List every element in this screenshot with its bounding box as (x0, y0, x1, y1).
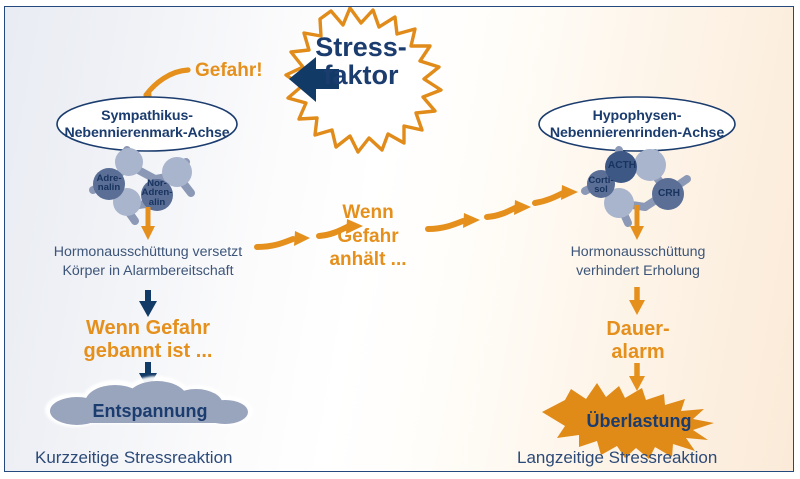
right-caption: Langzeitige Stressreaktion (517, 448, 717, 467)
cortisol-label: Corti- sol (578, 175, 624, 193)
gefahr-label: Gefahr! (195, 60, 263, 81)
left-caption: Kurzzeitige Stressreaktion (35, 448, 232, 467)
entspannung-label: Entspannung (63, 401, 237, 421)
adrenalin-label: Adre- nalin (85, 174, 133, 193)
right-effect-text: Hormonausschüttung verhindert Erholung (532, 243, 744, 281)
middle-arrow-chain-right-shape (428, 185, 578, 229)
right-orange-down-arrow3-shape (629, 363, 645, 391)
acth-label: ACTH (599, 161, 645, 171)
hypophysen-axis-label: Hypophysen- Nebennierenrinden-Achse (533, 108, 741, 142)
diagram-canvas: Stress- faktor Gefahr! Sympathikus- Nebe… (0, 0, 800, 479)
noradrenalin-label: Nor- Adren- alin (133, 179, 181, 207)
diagram-frame: Stress- faktor Gefahr! Sympathikus- Nebe… (4, 6, 794, 472)
right-orange-down-arrow2-shape (629, 287, 645, 315)
ueberlastung-label: Überlastung (557, 411, 721, 431)
left-condition-text: Wenn Gefahr gebannt ist ... (43, 317, 253, 363)
left-effect-text: Hormonausschüttung versetzt Körper in Al… (33, 243, 263, 281)
stressfaktor-label: Stress- faktor (301, 33, 421, 89)
middle-condition-text: Wenn Gefahr anhält ... (312, 201, 424, 272)
crh-label: CRH (646, 189, 692, 199)
right-condition-text: Dauer- alarm (567, 318, 709, 364)
sympathikus-axis-label: Sympathikus- Nebennierenmark-Achse (52, 108, 242, 142)
left-navy-down-arrow-shape (139, 290, 157, 317)
left-orange-down-arrow-shape (141, 207, 155, 240)
